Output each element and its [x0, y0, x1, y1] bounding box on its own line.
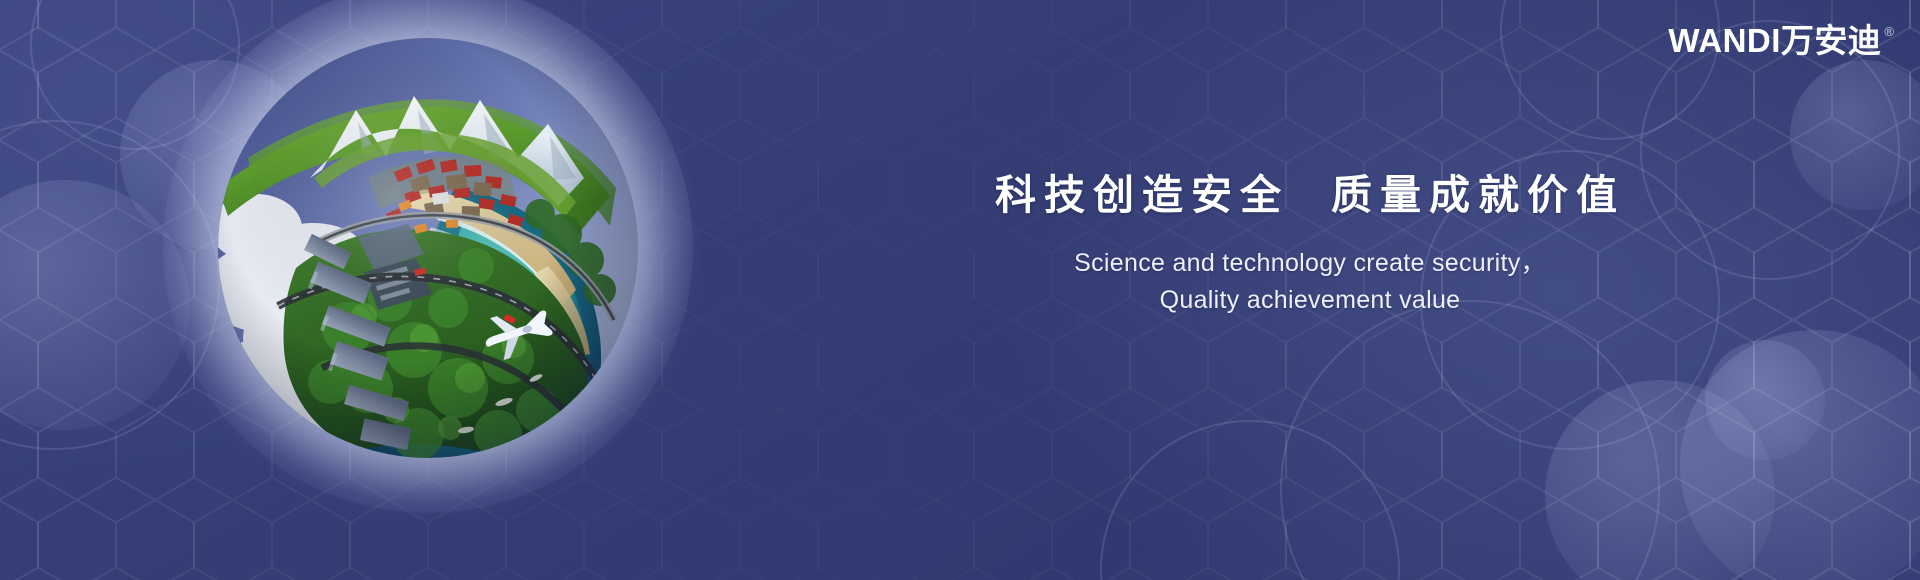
brand-logo[interactable]: WANDI 万安迪 ® [1668, 24, 1894, 57]
headline-right: 质量成就价值 [1331, 172, 1625, 218]
logo-chinese-text: 万安迪 [1781, 24, 1882, 57]
globe-image [218, 38, 638, 458]
headline: 科技创造安全质量成就价值 [950, 168, 1670, 223]
logo-latin-text: WANDI [1668, 24, 1781, 57]
subtitle-line-1: Science and technology create security， [950, 245, 1670, 282]
airplane-icon [476, 298, 562, 368]
subtitle-line-2: Quality achievement value [950, 282, 1670, 319]
registered-trademark-icon: ® [1884, 25, 1894, 38]
subtitle: Science and technology create security， … [950, 245, 1670, 318]
tiny-planet [218, 38, 638, 458]
headline-left: 科技创造安全 [995, 172, 1289, 218]
hero-banner: WANDI 万安迪 ® 科技创造安全质量成就价值 Science and tec… [0, 0, 1920, 580]
hero-copy: 科技创造安全质量成就价值 Science and technology crea… [950, 168, 1670, 318]
